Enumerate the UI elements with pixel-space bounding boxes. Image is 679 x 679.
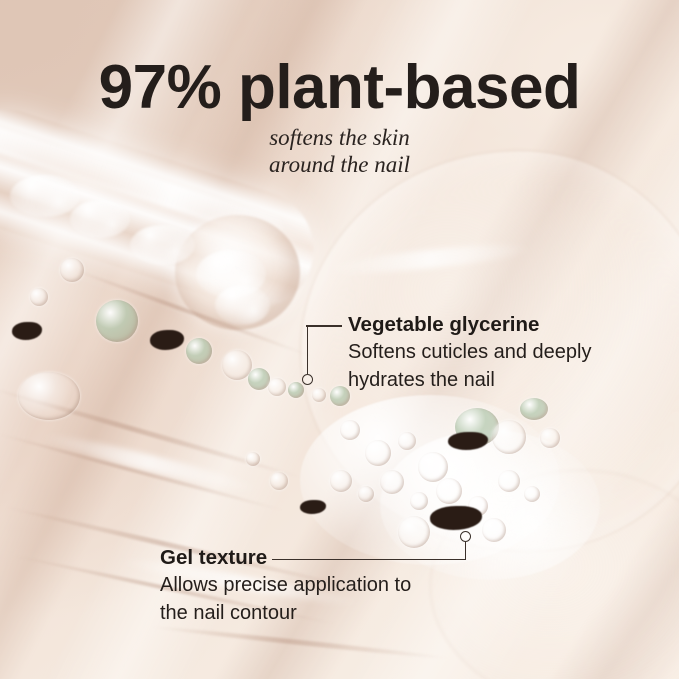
callout-leader-horizontal-glycerine (306, 325, 342, 327)
gel-bubble (186, 338, 212, 364)
callout-title-glycerine: Vegetable glycerine (348, 313, 539, 337)
sparkle-cluster (130, 225, 195, 265)
gel-bubble (96, 300, 138, 342)
callout-marker-glycerine (302, 374, 313, 385)
gel-bubble (410, 492, 428, 510)
gel-bubble (540, 428, 560, 448)
product-infographic: 97% plant-based softens the skin around … (0, 0, 679, 679)
gel-bubble (246, 452, 260, 466)
callout-body-glycerine: Softens cuticles and deeply hydrates the… (348, 338, 638, 394)
gel-bubble (482, 518, 506, 542)
callout-title-gel-texture: Gel texture (160, 546, 267, 570)
callout-marker-gel-texture (460, 531, 471, 542)
callout-body-line-2: hydrates the nail (348, 366, 638, 394)
callout-body-gel-texture: Allows precise application to the nail c… (160, 571, 460, 627)
gel-bubble (365, 440, 391, 466)
gel-bubble (268, 378, 286, 396)
gel-bubble (398, 432, 416, 450)
gel-bubble (398, 516, 430, 548)
gel-bubble (498, 470, 520, 492)
gel-bubble (312, 388, 326, 402)
gel-bubble (18, 372, 80, 420)
sparkle-cluster (70, 200, 130, 238)
gel-bubble (358, 486, 374, 502)
gel-bubble (340, 420, 360, 440)
gel-bubble (60, 258, 84, 282)
gel-bubble (30, 288, 48, 306)
sparkle-cluster (215, 285, 270, 325)
callout-leader-horizontal-gel-texture (272, 559, 466, 561)
gel-bubble (492, 420, 526, 454)
gel-bubble (248, 368, 270, 390)
gel-bubble (380, 470, 404, 494)
subtitle-line-2: around the nail (0, 151, 679, 178)
gel-bubble (288, 382, 304, 398)
gel-bubble (330, 386, 350, 406)
callout-body-line-1: Softens cuticles and deeply (348, 338, 638, 366)
gel-bubble (330, 470, 352, 492)
gel-bubble (524, 486, 540, 502)
callout-leader-vertical-gel-texture (465, 542, 467, 560)
sparkle-cluster (10, 175, 80, 217)
subtitle-line-1: softens the skin (0, 124, 679, 151)
gel-bubble (436, 478, 462, 504)
page-title: 97% plant-based (0, 52, 679, 123)
gel-bubble (418, 452, 448, 482)
callout-leader-vertical-glycerine (307, 326, 309, 374)
subtitle: softens the skin around the nail (0, 124, 679, 178)
callout-body-line-1: Allows precise application to (160, 571, 460, 599)
gel-bubble (520, 398, 548, 420)
callout-body-line-2: the nail contour (160, 599, 460, 627)
gel-bubble (270, 472, 288, 490)
